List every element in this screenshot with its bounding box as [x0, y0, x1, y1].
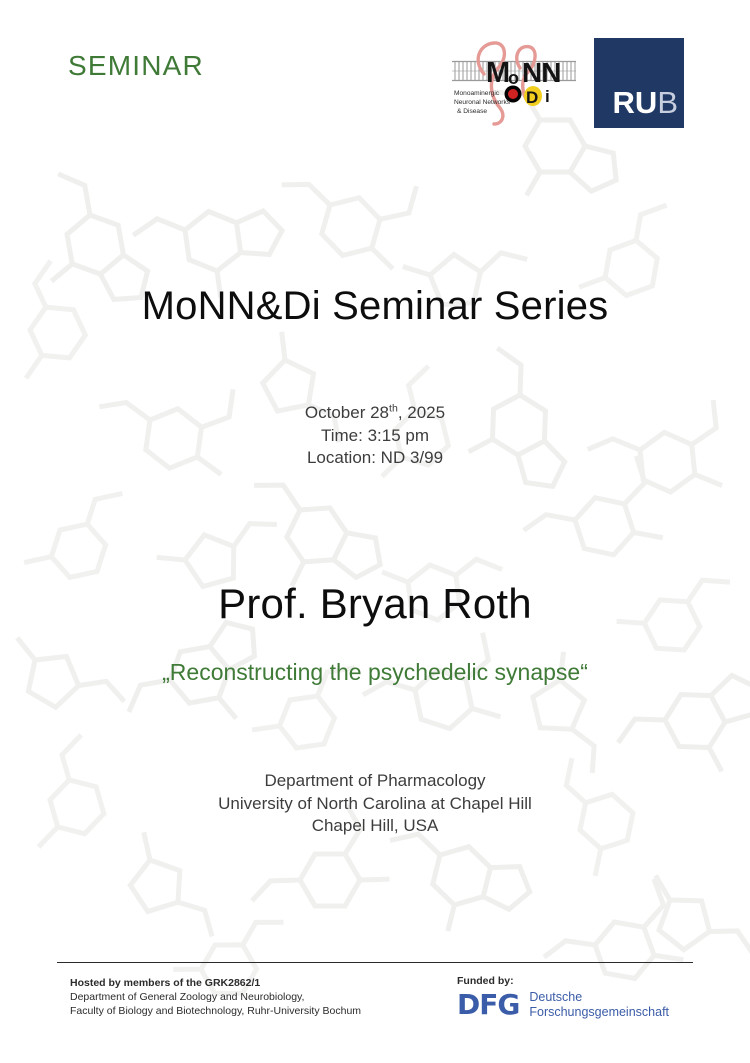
rub-logo: RUB	[594, 38, 684, 128]
svg-text:M: M	[486, 57, 509, 89]
rub-logo-text: RUB	[594, 87, 678, 118]
poster-content: SEMINAR	[0, 0, 750, 1063]
rub-logo-light: B	[657, 85, 678, 120]
event-date: October 28th, 2025	[0, 402, 750, 425]
event-details: October 28th, 2025 Time: 3:15 pm Locatio…	[0, 402, 750, 470]
dfg-wordmark: DFG	[457, 991, 519, 1019]
rub-logo-bold: RU	[613, 85, 658, 120]
footer-host-info: Hosted by members of the GRK2862/1 Depar…	[70, 976, 361, 1018]
poster-footer: Hosted by members of the GRK2862/1 Depar…	[0, 972, 750, 1052]
dfg-name-line1: Deutsche	[529, 990, 669, 1005]
svg-text:Monoaminergic: Monoaminergic	[454, 90, 500, 97]
dfg-name-line2: Forschungsgemeinschaft	[529, 1005, 669, 1020]
talk-title: „Reconstructing the psychedelic synapse“	[0, 659, 750, 686]
footer-divider	[57, 962, 693, 963]
event-time: Time: 3:15 pm	[0, 425, 750, 448]
affiliation-department: Department of Pharmacology	[0, 770, 750, 793]
dfg-logo: DFG Deutsche Forschungsgemeinschaft	[457, 990, 669, 1020]
svg-text:D: D	[526, 88, 538, 107]
poster-header: SEMINAR	[0, 0, 750, 150]
logo-group: M o NN D i Monoaminergic Neuronal Networ…	[450, 38, 684, 130]
svg-text:o: o	[508, 68, 519, 88]
dfg-full-name: Deutsche Forschungsgemeinschaft	[529, 990, 669, 1020]
seminar-label: SEMINAR	[68, 50, 204, 82]
svg-text:Neuronal Networks: Neuronal Networks	[454, 99, 511, 106]
footer-hosted-by: Hosted by members of the GRK2862/1	[70, 976, 361, 990]
event-date-ordinal: th	[389, 402, 398, 414]
funded-by-label: Funded by:	[457, 975, 669, 987]
footer-funding-info: Funded by: DFG Deutsche Forschungsgemein…	[457, 975, 669, 1020]
svg-text:i: i	[545, 87, 550, 106]
seminar-poster: SEMINAR	[0, 0, 750, 1063]
page-title: MoNN&Di Seminar Series	[0, 284, 750, 329]
event-date-year: , 2025	[398, 403, 445, 422]
affiliation-university: University of North Carolina at Chapel H…	[0, 793, 750, 816]
footer-department: Department of General Zoology and Neurob…	[70, 990, 361, 1004]
event-date-prefix: October 28	[305, 403, 389, 422]
monndi-logo: M o NN D i Monoaminergic Neuronal Networ…	[450, 38, 590, 130]
svg-text:NN: NN	[522, 57, 560, 88]
footer-faculty: Faculty of Biology and Biotechnology, Ru…	[70, 1004, 361, 1018]
speaker-name: Prof. Bryan Roth	[0, 580, 750, 628]
svg-text:& Disease: & Disease	[457, 108, 487, 115]
affiliation-city: Chapel Hill, USA	[0, 815, 750, 838]
speaker-affiliation: Department of Pharmacology University of…	[0, 770, 750, 838]
event-location: Location: ND 3/99	[0, 447, 750, 470]
